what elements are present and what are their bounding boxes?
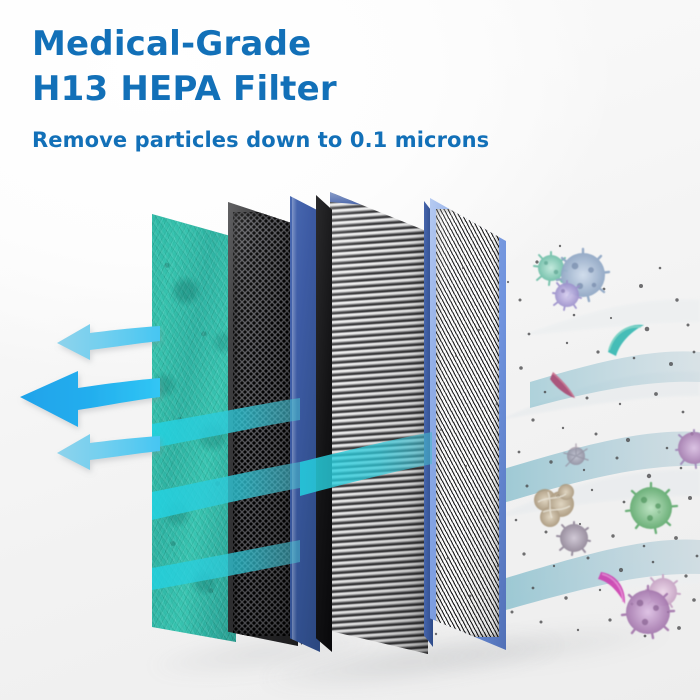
airflow-arrow-top [57, 324, 160, 360]
page-subtitle: Remove particles down to 0.1 microns [32, 128, 592, 152]
page-title: Medical-Grade H13 HEPA Filter [32, 22, 552, 112]
product-graphic-canvas: Medical-Grade H13 HEPA Filter Remove par… [0, 0, 700, 700]
airflow-arrow-middle [20, 371, 160, 427]
airflow-arrow-bottom [57, 434, 160, 470]
